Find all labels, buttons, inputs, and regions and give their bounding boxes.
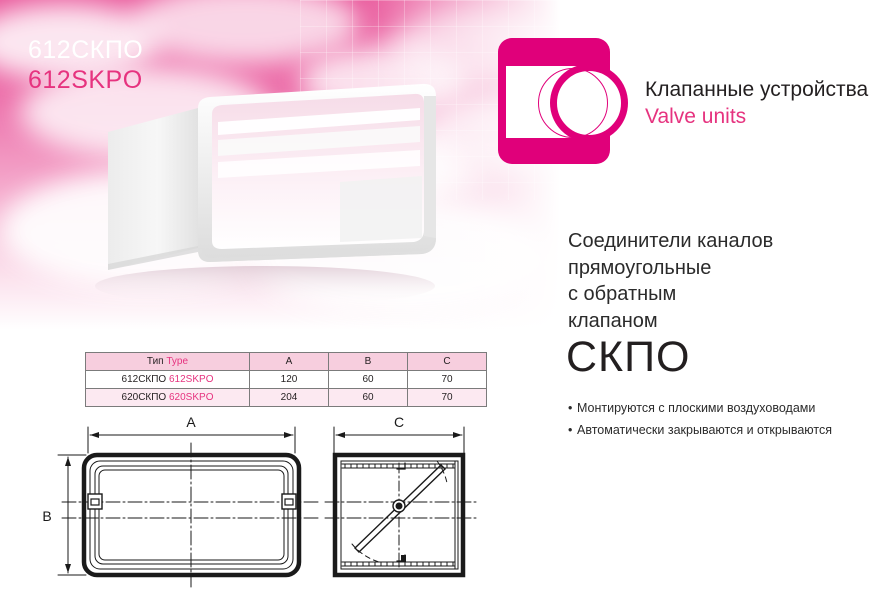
category-label-en: Valve units — [645, 103, 868, 130]
column-header-b: B — [329, 353, 408, 371]
header-type-en: Type — [166, 356, 188, 367]
feature-list: •Монтируются с плоскими воздуховодами •А… — [568, 398, 832, 441]
list-item: •Монтируются с плоскими воздуховодами — [568, 398, 832, 420]
title-ru: 612СКПО — [28, 36, 143, 66]
product-description: Соединители каналов прямоугольные с обра… — [568, 228, 773, 334]
bullet-dot-icon: • — [568, 420, 577, 442]
category-label-ru: Клапанные устройства — [645, 76, 868, 103]
description-line: клапаном — [568, 308, 773, 335]
cell-c: 70 — [408, 389, 487, 407]
column-header-c: C — [408, 353, 487, 371]
type-en: 620SKPO — [169, 392, 213, 403]
technical-drawings: A B C — [0, 405, 520, 595]
page-title: 612СКПО 612SKPO — [28, 36, 143, 95]
dimension-label-c: C — [394, 414, 404, 430]
type-ru: 620СКПО — [122, 392, 167, 403]
description-line: с обратным — [568, 281, 773, 308]
cell-type: 612СКПО 612SKPO — [86, 371, 250, 389]
product-heading: СКПО — [566, 336, 690, 379]
table-row: 620СКПО 620SKPO 204 60 70 — [86, 389, 487, 407]
valve-units-logo — [498, 38, 628, 168]
dimension-label-a: A — [186, 414, 196, 430]
type-en: 612SKPO — [169, 374, 213, 385]
logo-caption: Клапанные устройства Valve units — [645, 76, 868, 131]
specification-table: Тип Type A B C 612СКПО 612SKPO 120 60 70… — [85, 352, 487, 407]
type-ru: 612СКПО — [122, 374, 167, 385]
table-header-row: Тип Type A B C — [86, 353, 487, 371]
title-en: 612SKPO — [28, 66, 143, 96]
cell-a: 120 — [250, 371, 329, 389]
dimension-label-b: B — [42, 508, 51, 524]
product-photo — [40, 70, 470, 320]
logo-circle-overlap-icon — [538, 68, 608, 138]
column-header-type: Тип Type — [86, 353, 250, 371]
list-item: •Автоматически закрываются и открываются — [568, 420, 832, 442]
cell-a: 204 — [250, 389, 329, 407]
front-view — [58, 427, 320, 587]
cell-b: 60 — [329, 389, 408, 407]
description-line: Соединители каналов — [568, 228, 773, 255]
side-view — [325, 427, 478, 575]
cell-b: 60 — [329, 371, 408, 389]
bullet-text: Автоматически закрываются и открываются — [577, 423, 832, 437]
cell-type: 620СКПО 620SKPO — [86, 389, 250, 407]
table-row: 612СКПО 612SKPO 120 60 70 — [86, 371, 487, 389]
cell-c: 70 — [408, 371, 487, 389]
bullet-text: Монтируются с плоскими воздуховодами — [577, 401, 815, 415]
description-line: прямоугольные — [568, 255, 773, 282]
column-header-a: A — [250, 353, 329, 371]
header-type-ru: Тип — [147, 356, 164, 367]
bullet-dot-icon: • — [568, 398, 577, 420]
